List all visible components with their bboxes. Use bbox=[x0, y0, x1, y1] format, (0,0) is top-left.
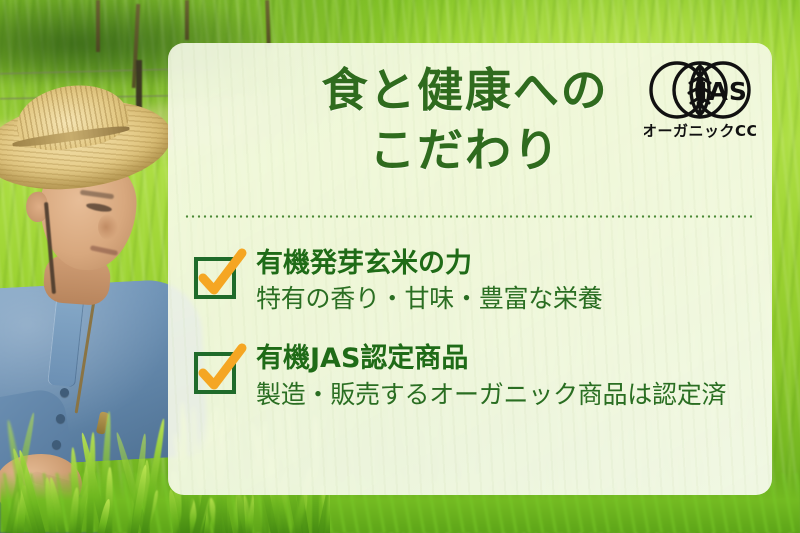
feature-item: 有機JAS認定商品 製造・販売するオーガニック商品は認定済 bbox=[194, 344, 754, 409]
feature-subtext: 製造・販売するオーガニック商品は認定済 bbox=[256, 379, 726, 410]
fence-post bbox=[185, 0, 189, 40]
checkbox-checked-icon bbox=[194, 255, 238, 299]
feature-item: 有機発芽玄米の力 特有の香り・甘味・豊富な栄養 bbox=[194, 249, 754, 314]
fence-post bbox=[96, 0, 100, 52]
feature-heading: 有機発芽玄米の力 bbox=[256, 249, 603, 279]
feature-text: 有機発芽玄米の力 特有の香り・甘味・豊富な栄養 bbox=[256, 249, 603, 314]
dotted-divider bbox=[184, 215, 752, 218]
title-line-2: こだわり bbox=[168, 121, 772, 181]
feature-heading: 有機JAS認定商品 bbox=[256, 344, 726, 374]
checkbox-checked-icon bbox=[194, 350, 238, 394]
content-panel: JAS オーガニックCC 食と健康への こだわり 有機発芽玄米の力 bbox=[168, 43, 772, 495]
title-line-1: 食と健康への bbox=[168, 61, 772, 121]
page-title: 食と健康への こだわり bbox=[168, 61, 772, 181]
feature-subtext: 特有の香り・甘味・豊富な栄養 bbox=[256, 283, 603, 314]
farmer-nose bbox=[98, 214, 118, 240]
feature-text: 有機JAS認定商品 製造・販売するオーガニック商品は認定済 bbox=[256, 344, 726, 409]
feature-list: 有機発芽玄米の力 特有の香り・甘味・豊富な栄養 有機JAS認定商品 製造・販売す… bbox=[194, 249, 754, 440]
